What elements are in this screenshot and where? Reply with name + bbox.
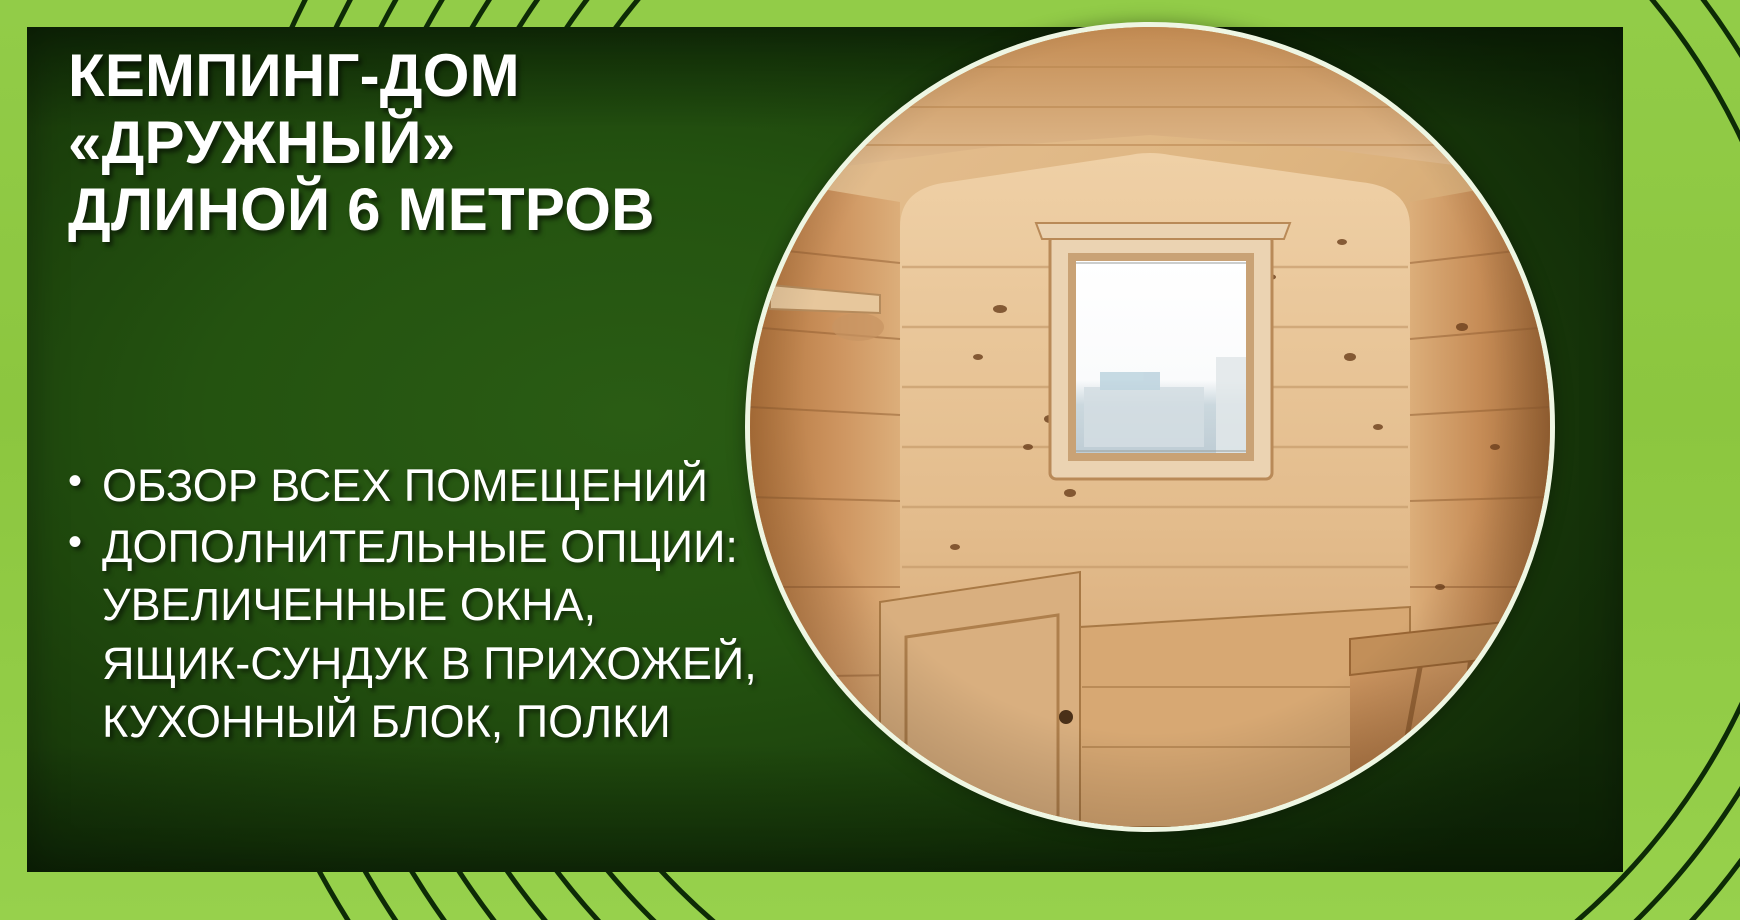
bullet-sub-line-3: КУХОННЫЙ БЛОК, ПОЛКИ — [102, 693, 858, 752]
poster: КЕМПИНГ-ДОМ «ДРУЖНЫЙ» ДЛИНОЙ 6 МЕТРОВ ОБ… — [0, 0, 1740, 920]
list-item: ОБЗОР ВСЕХ ПОМЕЩЕНИЙ — [68, 457, 858, 516]
bullet-lead-1: ОБЗОР ВСЕХ ПОМЕЩЕНИЙ — [102, 457, 858, 516]
title-line-3: ДЛИНОЙ 6 МЕТРОВ — [68, 176, 828, 243]
interior-illustration — [750, 27, 1550, 827]
bullet-sub-line-2: ЯЩИК-СУНДУК В ПРИХОЖЕЙ, — [102, 635, 858, 694]
text-column: КЕМПИНГ-ДОМ «ДРУЖНЫЙ» ДЛИНОЙ 6 МЕТРОВ ОБ… — [68, 42, 828, 244]
list-item: ДОПОЛНИТЕЛЬНЫЕ ОПЦИИ: УВЕЛИЧЕННЫЕ ОКНА, … — [68, 518, 858, 752]
bullet-lead-2: ДОПОЛНИТЕЛЬНЫЕ ОПЦИИ: — [102, 518, 858, 577]
bullet-sub-line-1: УВЕЛИЧЕННЫЕ ОКНА, — [102, 576, 858, 635]
feature-bullet-list: ОБЗОР ВСЕХ ПОМЕЩЕНИЙ ДОПОЛНИТЕЛЬНЫЕ ОПЦИ… — [68, 457, 858, 754]
page-title: КЕМПИНГ-ДОМ «ДРУЖНЫЙ» ДЛИНОЙ 6 МЕТРОВ — [68, 42, 828, 244]
interior-photo — [745, 22, 1555, 832]
title-line-2: «ДРУЖНЫЙ» — [68, 109, 828, 176]
title-line-1: КЕМПИНГ-ДОМ — [68, 42, 828, 109]
